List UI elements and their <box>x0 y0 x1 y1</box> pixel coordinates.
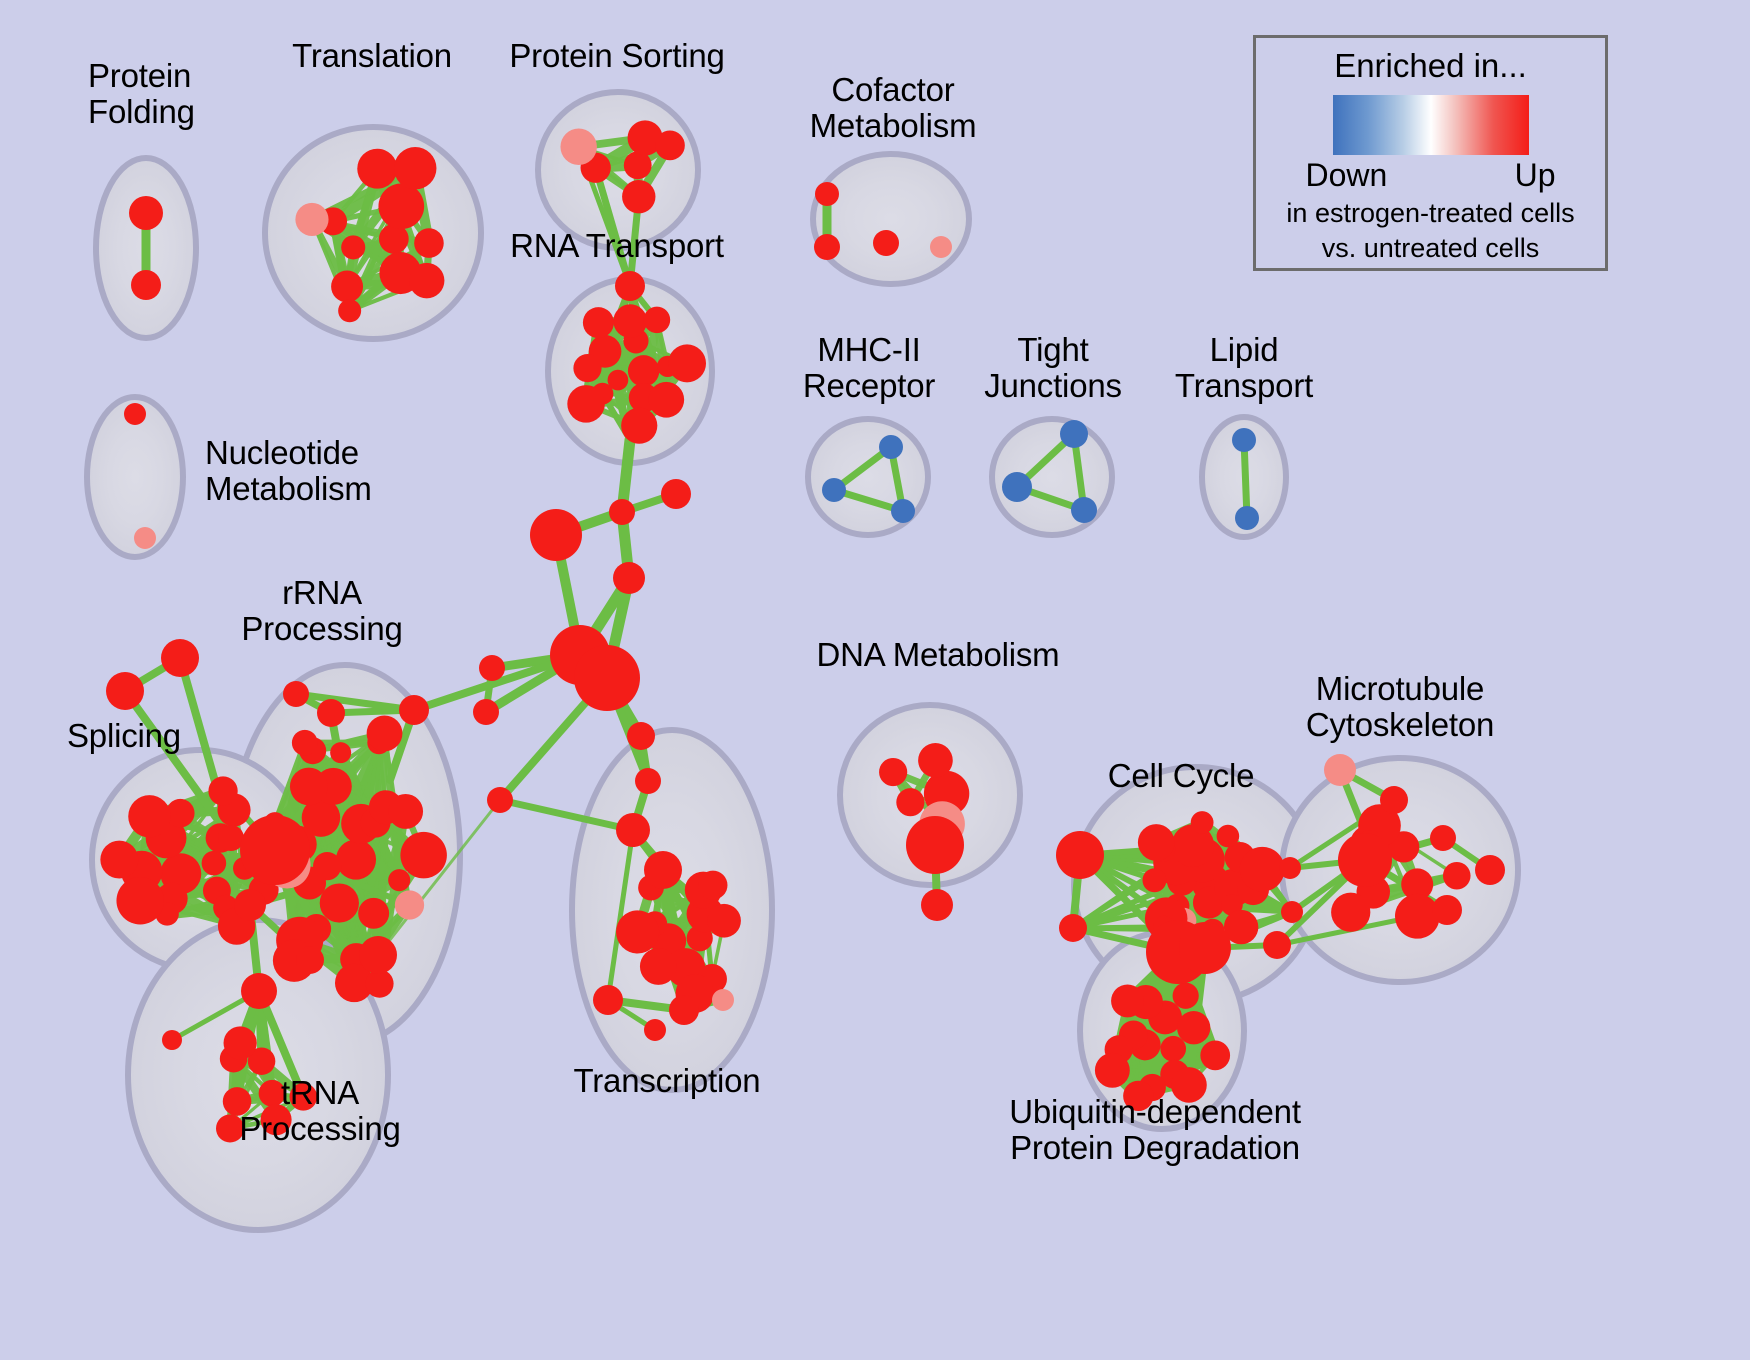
network-node[interactable] <box>1056 831 1104 879</box>
network-node[interactable] <box>1232 428 1256 452</box>
network-node[interactable] <box>873 230 899 256</box>
network-node[interactable] <box>530 509 582 561</box>
network-node[interactable] <box>698 871 727 900</box>
network-node[interactable] <box>573 354 601 382</box>
network-node[interactable] <box>648 382 684 418</box>
cluster-label-tight-junctions: Tight Junctions <box>984 332 1122 403</box>
network-node[interactable] <box>1060 420 1088 448</box>
network-node[interactable] <box>879 435 903 459</box>
network-node[interactable] <box>394 147 437 190</box>
network-node[interactable] <box>616 813 650 847</box>
legend-caption-line1: in estrogen-treated cells <box>1256 198 1605 229</box>
network-node[interactable] <box>134 527 156 549</box>
cluster-label-transcription: Transcription <box>574 1063 761 1099</box>
network-node[interactable] <box>1217 825 1240 848</box>
network-node[interactable] <box>640 948 677 985</box>
cluster-label-ubiquitin-protein-degradation: Ubiquitin-dependent Protein Degradation <box>1009 1094 1301 1165</box>
network-node[interactable] <box>234 889 266 921</box>
network-node[interactable] <box>574 645 640 711</box>
cluster-label-cofactor-metabolism: Cofactor Metabolism <box>810 72 977 143</box>
network-node[interactable] <box>644 851 682 889</box>
network-node[interactable] <box>409 263 444 298</box>
network-node[interactable] <box>1059 914 1087 942</box>
network-node[interactable] <box>1263 931 1291 959</box>
network-node[interactable] <box>1111 984 1144 1017</box>
network-node[interactable] <box>661 479 691 509</box>
network-node[interactable] <box>930 236 952 258</box>
network-node[interactable] <box>296 946 324 974</box>
network-node[interactable] <box>240 815 310 885</box>
network-node[interactable] <box>388 794 423 829</box>
network-node[interactable] <box>367 716 403 752</box>
network-node[interactable] <box>609 499 635 525</box>
network-node[interactable] <box>593 985 623 1015</box>
network-node[interactable] <box>1138 824 1175 861</box>
network-node[interactable] <box>567 385 605 423</box>
legend-high-label: Up <box>1515 157 1556 194</box>
cluster-label-trna-processing: tRNA Processing <box>239 1075 400 1146</box>
network-node[interactable] <box>921 889 953 921</box>
cluster-label-protein-folding: Protein Folding <box>88 58 195 129</box>
cluster-label-protein-sorting: Protein Sorting <box>509 38 724 74</box>
legend-caption-line2: vs. untreated cells <box>1256 233 1605 264</box>
network-node[interactable] <box>644 307 671 334</box>
network-node[interactable] <box>395 890 424 919</box>
network-node[interactable] <box>655 130 685 160</box>
network-node[interactable] <box>161 639 199 677</box>
network-node[interactable] <box>1177 1011 1210 1044</box>
network-node[interactable] <box>815 182 839 206</box>
network-node[interactable] <box>628 355 659 386</box>
legend-low-label: Down <box>1306 157 1388 194</box>
network-node[interactable] <box>1095 1053 1130 1088</box>
cluster-label-nucleotide-metabolism: Nucleotide Metabolism <box>205 435 372 506</box>
network-node[interactable] <box>292 730 318 756</box>
network-node[interactable] <box>635 768 661 794</box>
network-node[interactable] <box>106 672 144 710</box>
network-node[interactable] <box>1142 868 1166 892</box>
network-node[interactable] <box>1160 1036 1186 1062</box>
cluster-label-splicing: Splicing <box>67 718 181 754</box>
cluster-label-dna-metabolism: DNA Metabolism <box>817 637 1060 673</box>
network-node[interactable] <box>129 196 163 230</box>
network-node[interactable] <box>668 344 706 382</box>
network-node[interactable] <box>622 180 655 213</box>
network-node[interactable] <box>338 299 361 322</box>
network-node[interactable] <box>879 758 907 786</box>
network-node[interactable] <box>1240 847 1285 892</box>
network-node[interactable] <box>621 408 657 444</box>
network-node[interactable] <box>224 1026 257 1059</box>
network-node[interactable] <box>583 307 614 338</box>
network-node[interactable] <box>613 562 645 594</box>
legend-panel: Enriched in... Down Up in estrogen-treat… <box>1253 35 1608 271</box>
cluster-label-rna-transport: RNA Transport <box>510 228 724 264</box>
network-node[interactable] <box>624 151 652 179</box>
network-node[interactable] <box>414 228 444 258</box>
network-node[interactable] <box>357 149 397 189</box>
network-node[interactable] <box>560 129 596 165</box>
network-node[interactable] <box>1173 983 1199 1009</box>
network-node[interactable] <box>1380 786 1408 814</box>
network-node[interactable] <box>388 869 410 891</box>
network-node[interactable] <box>290 768 328 806</box>
network-node[interactable] <box>400 832 446 878</box>
network-node[interactable] <box>341 235 365 259</box>
network-node[interactable] <box>336 839 376 879</box>
network-node[interactable] <box>1338 833 1392 887</box>
cluster-label-rrna-processing: rRNA Processing <box>241 575 402 646</box>
network-node[interactable] <box>479 655 505 681</box>
network-node[interactable] <box>891 499 915 523</box>
network-node[interactable] <box>918 743 953 778</box>
network-node[interactable] <box>1432 895 1462 925</box>
network-node[interactable] <box>358 898 389 929</box>
network-node[interactable] <box>331 270 363 302</box>
network-node[interactable] <box>1430 825 1456 851</box>
network-node[interactable] <box>399 695 429 725</box>
network-node[interactable] <box>1443 862 1471 890</box>
color-scale-bar <box>1333 95 1529 155</box>
network-node[interactable] <box>162 1030 182 1050</box>
network-node[interactable] <box>128 795 170 837</box>
network-node[interactable] <box>124 403 146 425</box>
network-node[interactable] <box>644 1019 666 1041</box>
cluster-ellipse-cofactor-metabolism <box>813 154 969 284</box>
network-node[interactable] <box>1002 472 1032 502</box>
network-node[interactable] <box>320 883 359 922</box>
network-node[interactable] <box>822 478 846 502</box>
network-node[interactable] <box>616 910 659 953</box>
network-node[interactable] <box>1179 922 1231 974</box>
network-node[interactable] <box>669 995 699 1025</box>
network-node[interactable] <box>116 877 164 925</box>
network-node[interactable] <box>896 788 924 816</box>
legend-title: Enriched in... <box>1256 47 1605 85</box>
network-node[interactable] <box>814 234 840 260</box>
network-node[interactable] <box>487 787 513 813</box>
network-node[interactable] <box>1071 497 1097 523</box>
network-node[interactable] <box>1475 855 1505 885</box>
network-node[interactable] <box>1279 857 1301 879</box>
network-node[interactable] <box>1191 811 1214 834</box>
network-node[interactable] <box>295 203 328 236</box>
network-node[interactable] <box>712 989 734 1011</box>
network-node[interactable] <box>1324 754 1356 786</box>
enrichment-map-figure: Protein FoldingTranslationProtein Sortin… <box>0 0 1750 1360</box>
network-node[interactable] <box>378 183 424 229</box>
network-node[interactable] <box>615 271 645 301</box>
network-node[interactable] <box>707 904 741 938</box>
network-node[interactable] <box>241 973 277 1009</box>
cluster-label-microtubule-cytoskeleton: Microtubule Cytoskeleton <box>1306 671 1494 742</box>
network-node[interactable] <box>1395 894 1440 939</box>
network-node[interactable] <box>473 699 499 725</box>
network-node[interactable] <box>1235 506 1259 530</box>
network-node[interactable] <box>906 816 964 874</box>
network-node[interactable] <box>100 841 138 879</box>
network-node[interactable] <box>131 270 161 300</box>
network-node[interactable] <box>330 742 351 763</box>
network-node[interactable] <box>627 722 655 750</box>
cluster-label-cell-cycle: Cell Cycle <box>1108 758 1255 794</box>
network-node[interactable] <box>1200 1040 1230 1070</box>
network-node[interactable] <box>208 776 237 805</box>
network-node[interactable] <box>1331 893 1370 932</box>
network-node[interactable] <box>202 851 227 876</box>
cluster-label-translation: Translation <box>292 38 452 74</box>
cluster-label-lipid-transport: Lipid Transport <box>1175 332 1313 403</box>
network-node[interactable] <box>317 699 345 727</box>
network-node[interactable] <box>613 304 647 338</box>
cluster-label-mhc-ii-receptor: MHC-II Receptor <box>803 332 935 403</box>
network-node[interactable] <box>359 936 397 974</box>
network-node[interactable] <box>283 681 309 707</box>
network-node[interactable] <box>1281 901 1303 923</box>
network-node[interactable] <box>218 825 244 851</box>
